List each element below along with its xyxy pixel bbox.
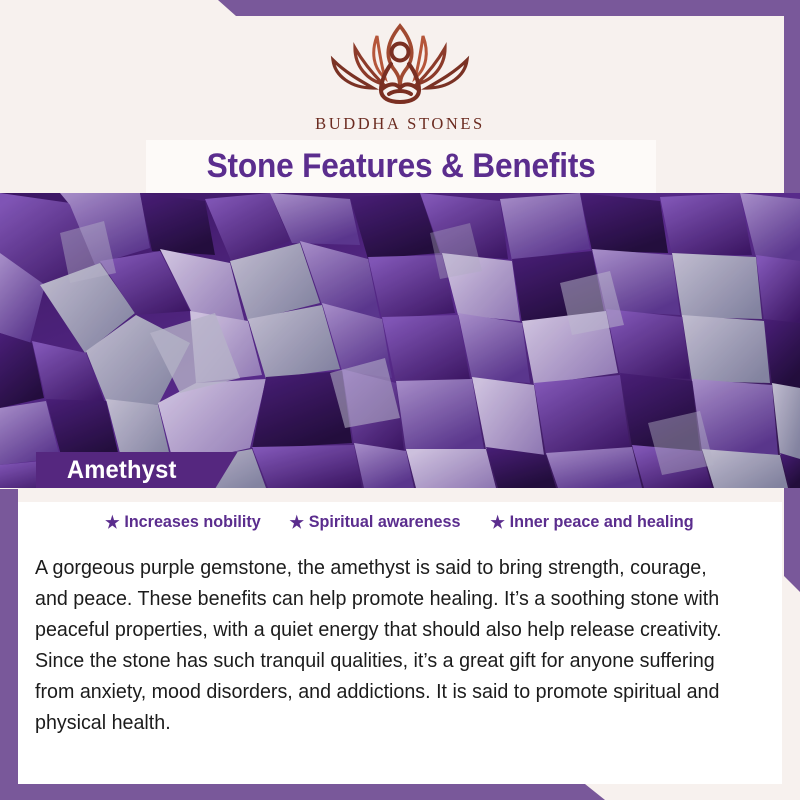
content-top-strip [18, 488, 782, 502]
star-icon: ★ [490, 514, 504, 531]
list-item: ★ Increases nobility [105, 512, 261, 532]
benefit-label: Increases nobility [124, 512, 260, 532]
list-item: ★ Spiritual awareness [289, 512, 460, 532]
lotus-meditation-icon [315, 18, 485, 110]
product-info-card: Amethyst [0, 0, 800, 800]
stone-description: A gorgeous purple gemstone, the amethyst… [35, 552, 743, 738]
amethyst-photo [0, 193, 800, 488]
benefits-list: ★ Increases nobility ★ Spiritual awarene… [18, 512, 782, 532]
star-icon: ★ [289, 514, 303, 531]
benefit-label: Inner peace and healing [510, 512, 694, 532]
benefit-label: Spiritual awareness [309, 512, 461, 532]
page-title: Stone Features & Benefits [207, 147, 596, 186]
content-panel: ★ Increases nobility ★ Spiritual awarene… [18, 488, 782, 784]
brand-logo: BUDDHA STONES [0, 18, 800, 134]
brand-name: BUDDHA STONES [315, 114, 485, 134]
list-item: ★ Inner peace and healing [490, 512, 693, 532]
section-title-band: Stone Features & Benefits [146, 140, 656, 193]
stone-name-tag: Amethyst [36, 452, 238, 488]
stone-name-label: Amethyst [67, 456, 177, 485]
star-icon: ★ [105, 514, 119, 531]
frame-right-upper-band [784, 0, 800, 193]
frame-left-band [0, 489, 18, 800]
frame-bottom-band [0, 784, 800, 800]
frame-right-lower-band [784, 488, 800, 592]
